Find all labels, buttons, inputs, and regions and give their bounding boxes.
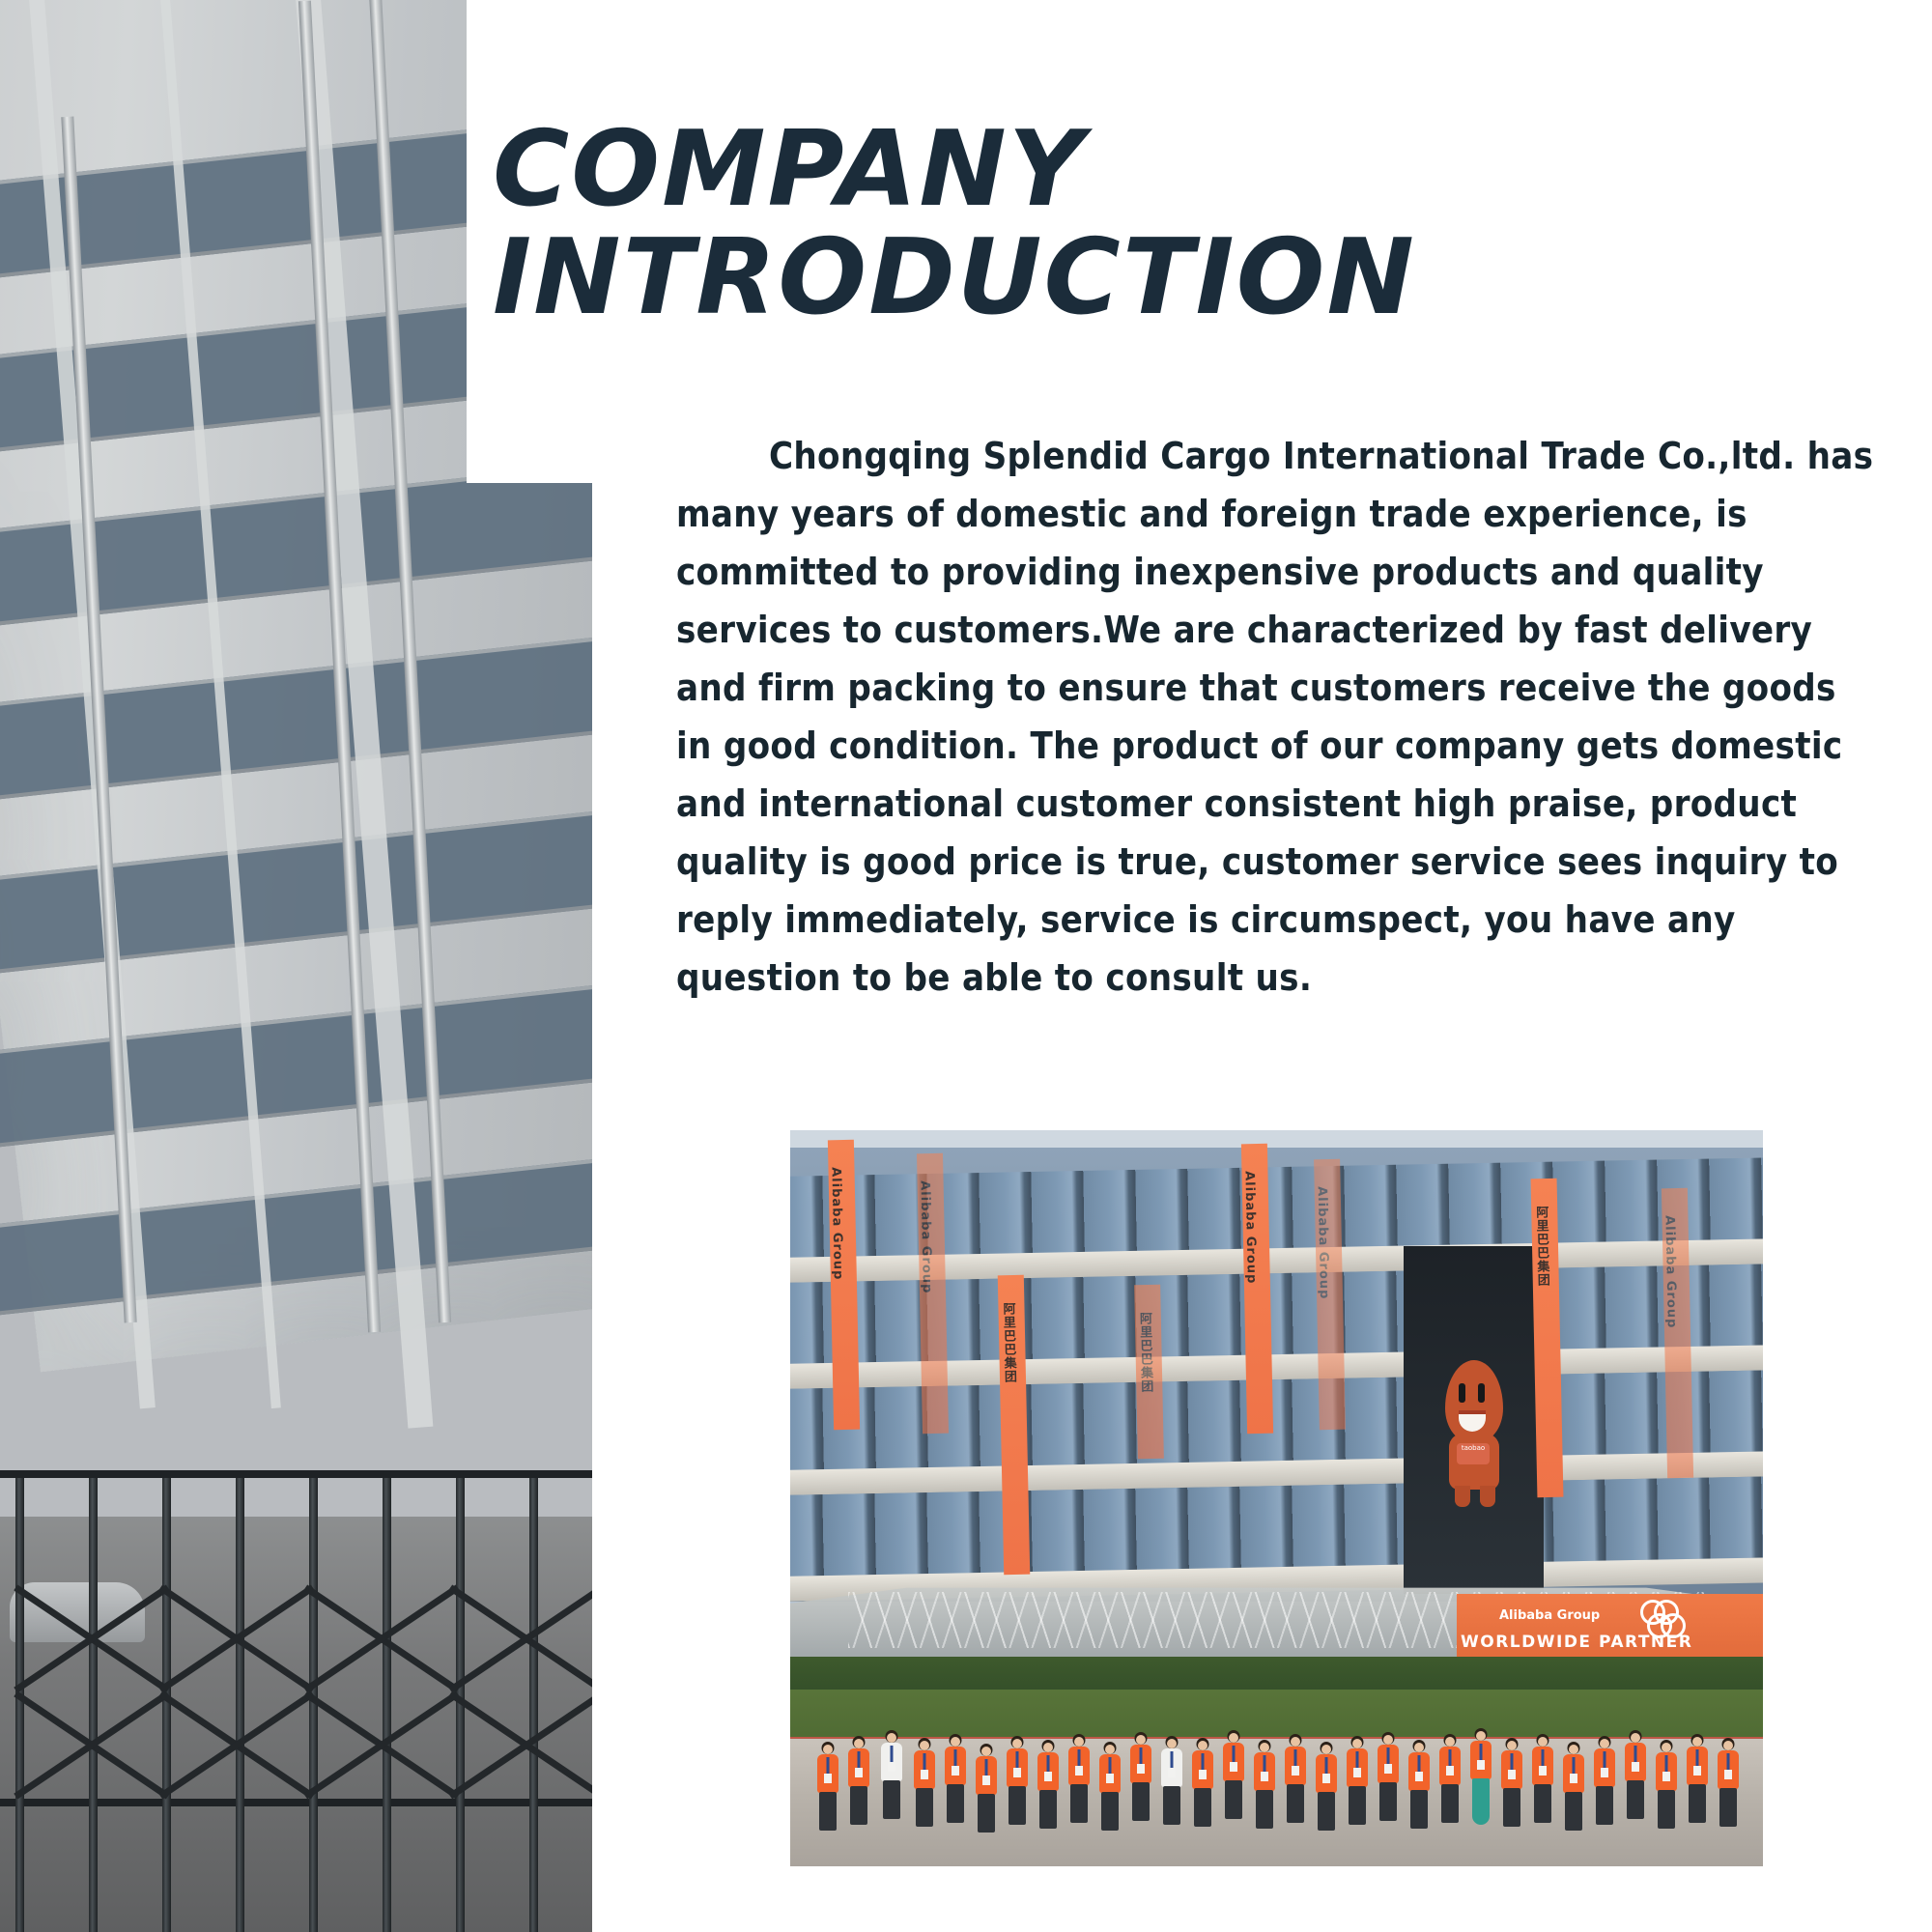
alibaba-banner-cn: 阿里巴巴集团	[1134, 1285, 1164, 1460]
mascot-leg-left	[1455, 1486, 1470, 1507]
gate-post	[89, 1478, 98, 1932]
person	[1314, 1742, 1339, 1850]
person	[1128, 1732, 1153, 1850]
person	[815, 1742, 840, 1850]
banner-label-cn: 阿里巴巴集团	[1531, 1179, 1551, 1287]
person	[943, 1734, 968, 1850]
person	[1654, 1740, 1679, 1850]
person	[974, 1744, 999, 1850]
person	[1592, 1736, 1617, 1850]
company-description-paragraph: Chongqing Splendid Cargo International T…	[676, 427, 1879, 1007]
gate-post	[383, 1478, 391, 1932]
slide-page: COMPANY INTRODUCTION Chongqing Splendid …	[0, 0, 1932, 1932]
alibaba-group-photo: taobao Alibaba Group Alibaba Group 阿里巴巴集…	[790, 1130, 1763, 1866]
person	[1499, 1738, 1524, 1850]
banner-label: Alibaba Group	[1241, 1144, 1259, 1285]
banner-label-cn: 阿里巴巴集团	[998, 1275, 1018, 1383]
banner-label: Alibaba Group	[917, 1153, 934, 1294]
gate-post	[15, 1478, 24, 1932]
worldwide-partner-text: WORLDWIDE PARTNER	[1461, 1633, 1760, 1652]
person	[1097, 1742, 1122, 1850]
olympic-rings-icon	[1640, 1596, 1692, 1642]
banner-label: Alibaba Group	[1314, 1159, 1331, 1300]
gate-post	[529, 1478, 538, 1932]
person	[1716, 1738, 1741, 1850]
person	[1468, 1728, 1493, 1850]
mascot-leg-right	[1480, 1486, 1495, 1507]
gate-post	[236, 1478, 244, 1932]
title-line-2: INTRODUCTION	[493, 224, 1652, 332]
person	[1376, 1732, 1401, 1850]
person	[912, 1738, 937, 1850]
mascot-badge: taobao	[1457, 1443, 1490, 1464]
person	[1283, 1734, 1308, 1850]
person	[1685, 1734, 1710, 1850]
person	[1530, 1734, 1555, 1850]
banner-label: Alibaba Group	[828, 1140, 845, 1281]
gate-post	[162, 1478, 171, 1932]
person	[1561, 1742, 1586, 1850]
person	[1066, 1734, 1092, 1850]
person	[1159, 1736, 1184, 1850]
mascot-eye-left	[1459, 1383, 1465, 1403]
banner-label: Alibaba Group	[1662, 1188, 1679, 1329]
person	[1623, 1730, 1648, 1850]
person	[846, 1736, 871, 1850]
person	[1005, 1736, 1030, 1850]
page-title: COMPANY INTRODUCTION	[493, 116, 1652, 333]
scissor-gate	[0, 1430, 592, 1932]
mascot-eye-right	[1478, 1383, 1485, 1403]
person	[1406, 1740, 1432, 1850]
gate-rail	[0, 1470, 592, 1478]
alibaba-logo-text: Alibaba Group	[1470, 1600, 1644, 1633]
title-line-1: COMPANY	[493, 109, 1086, 230]
person	[1190, 1738, 1215, 1850]
group-of-people	[790, 1671, 1763, 1850]
person	[1252, 1740, 1277, 1850]
person	[1437, 1734, 1463, 1850]
person	[879, 1730, 904, 1850]
person	[1345, 1736, 1370, 1850]
person	[1221, 1730, 1246, 1850]
banner-label-cn: 阿里巴巴集团	[1134, 1285, 1154, 1393]
taobao-mascot: taobao	[1439, 1360, 1509, 1505]
person	[1036, 1740, 1061, 1850]
